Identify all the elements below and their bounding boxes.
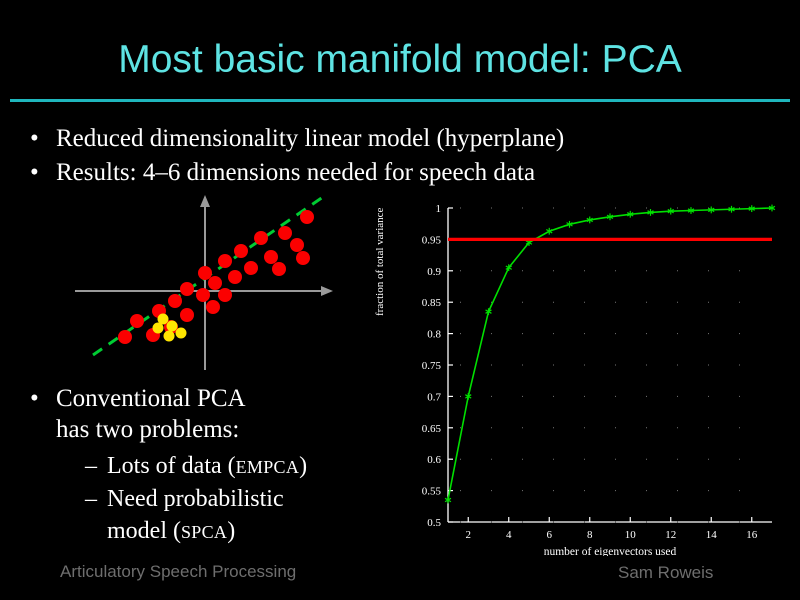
dash-marker: – [85, 450, 107, 482]
footer-right: Sam Roweis [618, 563, 713, 583]
chart-markers [445, 205, 775, 504]
svg-text:0.95: 0.95 [422, 234, 442, 246]
bullet-item: •Reduced dimensionality linear model (hy… [30, 122, 770, 156]
conventional-line-1: Conventional PCA [56, 385, 246, 412]
svg-text:0.65: 0.65 [422, 423, 442, 435]
scatter-svg [75, 195, 365, 375]
chart-y-ticks: 0.50.550.60.650.70.750.80.850.90.951 [422, 203, 768, 529]
svg-text:0.9: 0.9 [427, 266, 441, 278]
svg-text:0.8: 0.8 [427, 329, 441, 341]
scatter-points [118, 210, 314, 344]
svg-text:16: 16 [746, 529, 758, 541]
page-title: Most basic manifold model: PCA [0, 38, 800, 82]
svg-text:0.55: 0.55 [422, 486, 442, 498]
sub-bullet-item: –Lots of data (EMPCA) [85, 450, 307, 483]
chart-series-variance [448, 208, 772, 500]
svg-text:0.75: 0.75 [422, 360, 442, 372]
sub-bullet-text: Need probabilistic [107, 486, 284, 512]
sub-bullet-acronym: SPCA [181, 522, 227, 542]
svg-text:1: 1 [436, 203, 442, 215]
title-divider [10, 99, 790, 102]
bullet-item: •Results: 4–6 dimensions needed for spee… [30, 156, 770, 190]
sub-bullet-acronym: EMPCA [236, 457, 300, 477]
svg-text:4: 4 [506, 529, 512, 541]
pca-scatter-figure [75, 195, 365, 375]
chart-x-ticks: 246810121416 [466, 517, 758, 541]
sub-bullet-tail: ) [227, 518, 235, 544]
slide: Most basic manifold model: PCA •Reduced … [0, 0, 800, 600]
chart-ylabel: fraction of total variance [374, 208, 386, 316]
variance-chart: fraction of total variance 0.50.550.60.6… [380, 196, 780, 556]
svg-text:0.6: 0.6 [427, 454, 441, 466]
sub-bullet-text: model ( [107, 518, 181, 544]
sub-bullet-tail: ) [299, 453, 307, 479]
conventional-line-2: has two problems: [30, 414, 239, 445]
sub-bullet-list: –Lots of data (EMPCA) –Need probabilisti… [85, 450, 307, 548]
chart-axes [448, 208, 772, 522]
bullet-marker: • [30, 383, 56, 414]
sub-bullet-text: Lots of data ( [107, 453, 236, 479]
footer-left: Articulatory Speech Processing [60, 562, 296, 582]
sub-bullet-item: –model (SPCA) [85, 515, 307, 548]
chart-xlabel: number of eigenvectors used [544, 546, 677, 556]
bullet-list: •Reduced dimensionality linear model (hy… [30, 122, 770, 190]
svg-text:0.85: 0.85 [422, 297, 442, 309]
bullet-text: Reduced dimensionality linear model (hyp… [56, 125, 564, 152]
svg-text:0.7: 0.7 [427, 391, 441, 403]
chart-svg: 0.50.550.60.650.70.750.80.850.90.9512468… [380, 196, 780, 556]
bullet-marker: • [30, 156, 56, 190]
svg-text:12: 12 [665, 529, 676, 541]
sub-bullet-item: –Need probabilistic [85, 483, 307, 515]
svg-text:8: 8 [587, 529, 593, 541]
bullet-text: Results: 4–6 dimensions needed for speec… [56, 159, 535, 186]
bullet-conventional-pca: •Conventional PCA has two problems: [30, 383, 246, 445]
svg-text:14: 14 [706, 529, 718, 541]
svg-text:10: 10 [625, 529, 637, 541]
dash-marker: – [85, 483, 107, 515]
scatter-axes [75, 195, 333, 370]
bullet-marker: • [30, 122, 56, 156]
svg-text:6: 6 [547, 529, 553, 541]
svg-text:2: 2 [466, 529, 472, 541]
svg-text:0.5: 0.5 [427, 517, 441, 529]
